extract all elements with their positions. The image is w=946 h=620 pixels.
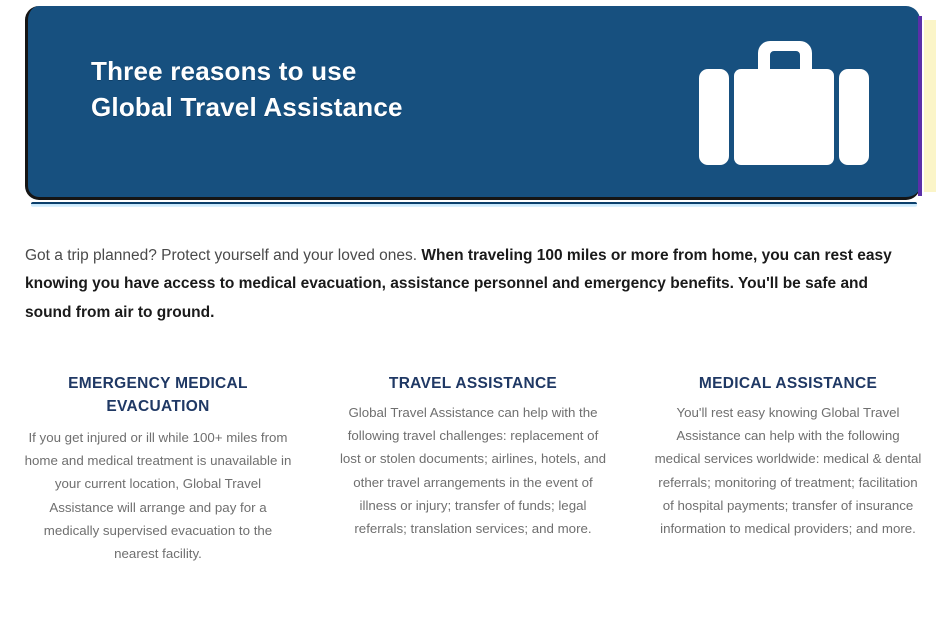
hero-title: Three reasons to use Global Travel Assis…	[91, 53, 403, 125]
column-body: You'll rest easy knowing Global Travel A…	[652, 401, 924, 540]
benefit-column-travel-assistance: TRAVEL ASSISTANCE Global Travel Assistan…	[337, 372, 609, 565]
hero-background: Three reasons to use Global Travel Assis…	[25, 6, 920, 200]
benefit-column-emergency-medical-evacuation: EMERGENCY MEDICAL EVACUATION If you get …	[22, 372, 294, 565]
column-heading: MEDICAL ASSISTANCE	[652, 372, 924, 395]
banner-underline	[31, 202, 917, 207]
suitcase-icon	[696, 33, 876, 181]
column-body: If you get injured or ill while 100+ mil…	[22, 426, 294, 565]
benefit-columns: EMERGENCY MEDICAL EVACUATION If you get …	[22, 372, 924, 565]
column-heading: EMERGENCY MEDICAL EVACUATION	[22, 372, 294, 418]
banner-right-cream-edge	[924, 20, 936, 192]
column-body: Global Travel Assistance can help with t…	[337, 401, 609, 540]
hero-banner: Three reasons to use Global Travel Assis…	[25, 6, 920, 200]
banner-right-purple-edge	[918, 16, 922, 196]
column-heading: TRAVEL ASSISTANCE	[337, 372, 609, 395]
intro-paragraph: Got a trip planned? Protect yourself and…	[25, 242, 915, 328]
benefit-column-medical-assistance: MEDICAL ASSISTANCE You'll rest easy know…	[652, 372, 924, 565]
intro-lead: Got a trip planned? Protect yourself and…	[25, 247, 417, 264]
